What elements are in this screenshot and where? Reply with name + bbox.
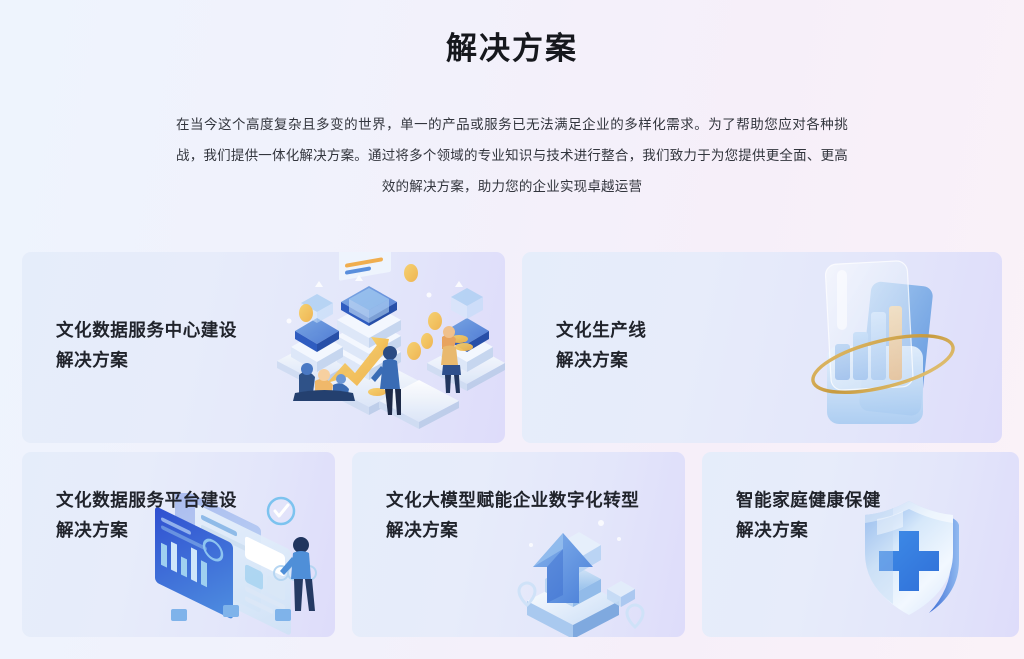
isometric-datacenter-icon [259,252,505,441]
solution-card-llm-digital-transformation[interactable]: 文化大模型赋能企业数字化转型 解决方案 [352,452,685,637]
solution-card-culture-data-center[interactable]: 文化数据服务中心建设 解决方案 [22,252,505,443]
solution-card-smart-home-health[interactable]: 智能家庭健康保健 解决方案 [702,452,1019,637]
solution-card-title: 文化数据服务中心建设 解决方案 [56,315,237,375]
solution-card-title: 文化大模型赋能企业数字化转型 解决方案 [386,485,639,545]
glass-panel-barchart-icon [779,254,994,442]
solutions-page: 解决方案 在当今这个高度复杂且多变的世界，单一的产品或服务已无法满足企业的多样化… [0,0,1024,659]
page-title: 解决方案 [0,0,1024,69]
solution-card-culture-data-platform[interactable]: 文化数据服务平台建设 解决方案 [22,452,335,637]
solution-card-title: 文化生产线 解决方案 [556,315,647,375]
solution-card-culture-production-line[interactable]: 文化生产线 解决方案 [522,252,1002,443]
page-intro-paragraph: 在当今这个高度复杂且多变的世界，单一的产品或服务已无法满足企业的多样化需求。为了… [176,109,848,202]
solution-card-title: 智能家庭健康保健 解决方案 [736,485,881,545]
solution-card-title: 文化数据服务平台建设 解决方案 [56,485,237,545]
solutions-card-grid: 文化数据服务中心建设 解决方案 [22,252,1002,637]
card-row-2: 文化数据服务平台建设 解决方案 [22,452,1002,637]
card-row-1: 文化数据服务中心建设 解决方案 [22,252,1002,443]
